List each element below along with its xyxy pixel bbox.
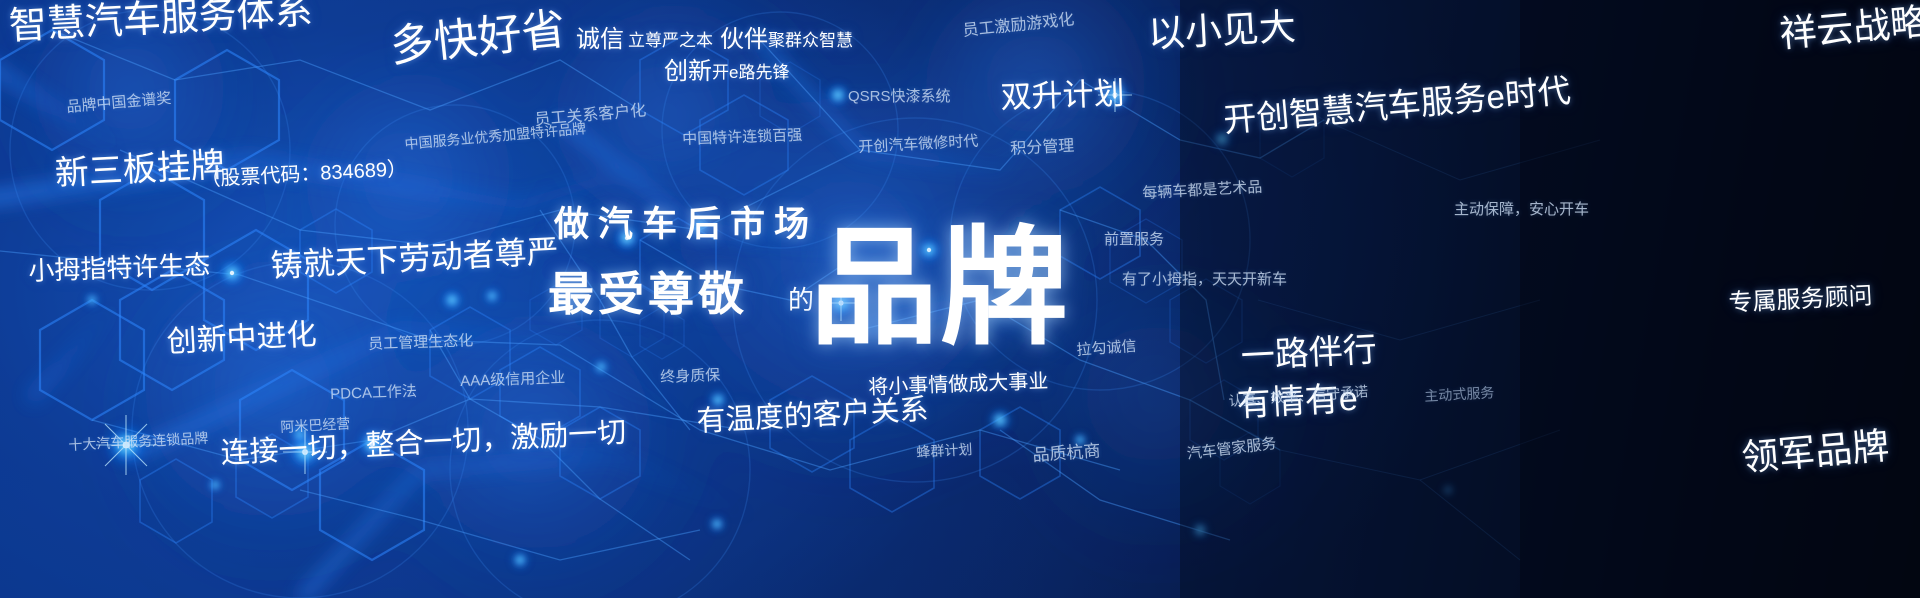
keyword-k02: 品牌中国金谱奖 [66, 91, 172, 115]
keyword-k19: 积分管理 [1010, 139, 1075, 158]
keyword-k20: 以小见大 [1147, 8, 1297, 53]
keyword-k18: 双升计划 [1000, 78, 1125, 113]
keyword-k04: （股票代码：834689） [200, 159, 408, 190]
keyword-k07: 立尊严之本 [628, 32, 713, 49]
keyword-k48: 蜂群计划 [916, 442, 973, 459]
hero-banner: 智慧汽车服务体系品牌中国金谱奖新三板挂牌（股票代码：834689）多快好省诚信立… [0, 0, 1920, 598]
keyword-k05: 多快好省 [388, 8, 568, 70]
keyword-k01: 智慧汽车服务体系 [8, 0, 314, 46]
keyword-k36: 铸就天下劳动者尊严 [270, 235, 559, 282]
keyword-k10: 创新 [664, 60, 712, 84]
keyword-k39: 员工管理生态化 [368, 333, 473, 352]
keyword-k42: 十大汽车服务连锁品牌 [68, 431, 209, 452]
keyword-k47: 将小事情做成大事业 [868, 372, 1049, 398]
keyword-k24: 主动保障，安心开车 [1454, 202, 1589, 217]
keyword-k17: 员工激励游戏化 [962, 12, 1075, 40]
keyword-k29: 一路伴行 [1240, 333, 1378, 374]
keyword-k15: QSRS快漆系统 [848, 89, 951, 104]
keyword-k06: 诚信 [576, 28, 624, 52]
keyword-k41: PDCA工作法 [330, 384, 417, 402]
keyword-k23: 每辆车都是艺术品 [1142, 180, 1263, 201]
keyword-k45: 阿米巴经营 [280, 416, 351, 434]
keyword-k40: AAA级信用企业 [460, 370, 565, 389]
keyword-k46: 有温度的客户关系 [696, 396, 929, 437]
keyword-k16: 开创汽车微修时代 [858, 134, 979, 155]
keyword-k37: 小拇指特许生态 [28, 252, 211, 284]
headline-brand-word: 品牌 [810, 184, 1070, 369]
keyword-k08: 伙伴 [720, 28, 768, 52]
keyword-k22: 开创智慧汽车服务e时代 [1222, 74, 1572, 137]
keyword-k11: 开e路先锋 [712, 64, 789, 81]
keyword-k27: 专属服务顾问 [1728, 284, 1873, 316]
keyword-k44: 终身质保 [660, 368, 721, 385]
keyword-k35: 领军品牌 [1740, 427, 1891, 477]
keyword-k13: 中国服务业优秀加盟特许品牌 [404, 121, 587, 151]
keyword-k21: 祥云战略 [1778, 3, 1920, 53]
keyword-k31: 主动式服务 [1424, 385, 1495, 403]
keyword-k38: 创新中进化 [166, 320, 317, 358]
keyword-k28: 拉勾诚信 [1076, 339, 1137, 358]
keyword-k34: 汽车管家服务 [1186, 436, 1277, 462]
headline-line-1: 做汽车后市场 [554, 196, 818, 247]
headline-line-2: 最受尊敬 [548, 258, 748, 324]
keyword-k09: 聚群众智慧 [768, 32, 853, 49]
keyword-k14: 中国特许连锁百强 [682, 128, 802, 147]
keyword-k25: 前置服务 [1104, 232, 1164, 247]
keyword-k26: 有了小拇指，天天开新车 [1122, 272, 1287, 287]
keyword-k33: 品质杭商 [1032, 442, 1101, 464]
